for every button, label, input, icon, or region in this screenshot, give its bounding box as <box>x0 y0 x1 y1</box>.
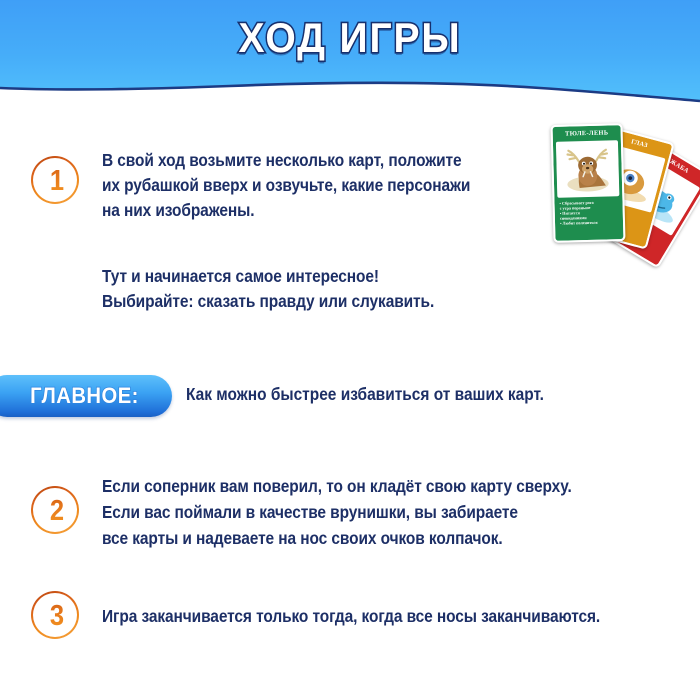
card-fan-illustration: ЖАБА <box>525 112 700 272</box>
step-2-line-3: все карты и надеваете на нос своих очков… <box>102 526 503 552</box>
step-2-line-1: Если соперник вам поверил, то он кладёт … <box>102 474 572 500</box>
game-card-green: ТЮЛЕ-ЛЕНЬ <box>550 123 625 243</box>
step-3-number-badge: 3 <box>31 591 79 639</box>
game-card-green-face: ТЮЛЕ-ЛЕНЬ <box>553 125 624 241</box>
step-1-number-badge: 1 <box>31 156 79 204</box>
step-2-number: 2 <box>36 488 78 536</box>
page-header: ХОД ИГРЫ <box>0 0 700 110</box>
main-rule-label: ГЛАВНОЕ: <box>0 375 165 417</box>
step-1-highlight-line-2: Выбирайте: сказать правду или слукавить. <box>102 289 434 315</box>
step-1-number: 1 <box>36 158 78 206</box>
step-1-line-1: В свой ход возьмите несколько карт, поло… <box>102 148 462 174</box>
main-rule-text: Как можно быстрее избавиться от ваших ка… <box>186 384 544 405</box>
step-1-line-3: на них изображены. <box>102 198 254 224</box>
main-rule-badge: ГЛАВНОЕ: <box>0 375 172 417</box>
instructions-page: ХОД ИГРЫ 1 В свой ход возьмите несколько… <box>0 0 700 700</box>
step-1-highlight-line-1: Тут и начинается самое интересное! <box>102 264 379 290</box>
game-card-bullet: • Любит полениться <box>560 219 620 226</box>
step-2-line-2: Если вас поймали в качестве врунишки, вы… <box>102 500 518 526</box>
game-card-green-art <box>556 140 619 198</box>
step-3-number: 3 <box>36 593 78 641</box>
page-title: ХОД ИГРЫ <box>25 14 676 62</box>
game-card-green-title: ТЮЛЕ-ЛЕНЬ <box>553 129 621 138</box>
game-card-green-bullets: • Сбрасывает рога с утра пораньше • Пита… <box>559 199 620 226</box>
step-3-line-1: Игра заканчивается только тогда, когда в… <box>102 604 600 630</box>
step-1-line-2: их рубашкой вверх и озвучьте, какие перс… <box>102 173 470 199</box>
step-2-number-badge: 2 <box>31 486 79 534</box>
